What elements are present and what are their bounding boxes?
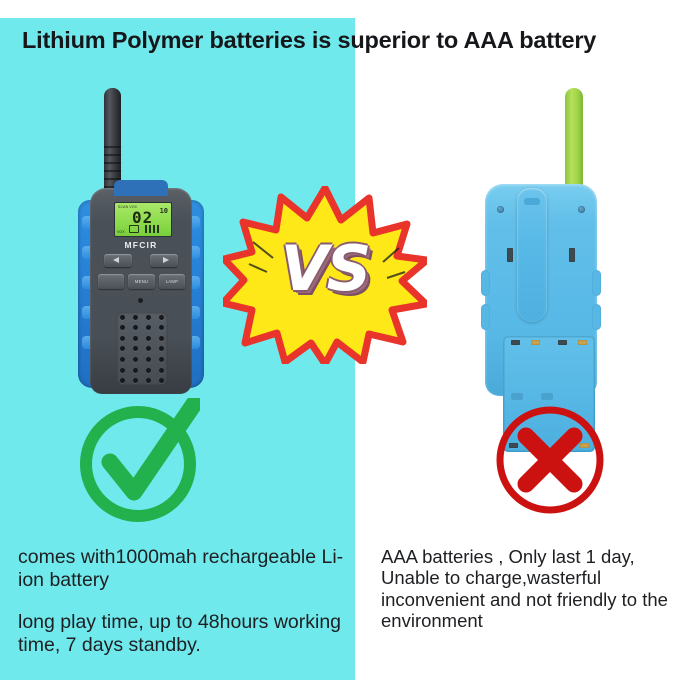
lcd-display: SCAN VOX 02 10 VOX: [114, 202, 172, 237]
brand-label: MFCIR: [90, 240, 192, 250]
bottom-foot-right: [541, 393, 553, 400]
product-comparison-infographic: Lithium Polymer batteries is superior to…: [0, 0, 679, 687]
speaker-grille: [116, 312, 168, 386]
lamp-button[interactable]: LAMP: [159, 274, 185, 289]
benefit-line-2: long play time, up to 48hours working ti…: [18, 611, 354, 656]
chevron-right-icon: [163, 257, 169, 263]
drawback-line-1: AAA batteries , Only last 1 day, Unable …: [381, 546, 677, 632]
left-device-shoulder: [114, 180, 168, 196]
menu-button[interactable]: MENU: [128, 274, 155, 289]
cross-mark-icon: [493, 403, 607, 517]
belt-clip-notch: [524, 198, 540, 205]
benefit-line-1: comes with1000mah rechargeable Li-ion ba…: [18, 546, 354, 591]
left-walkie-talkie-front-view: SCAN VOX 02 10 VOX MFCIR MENU LAMP: [76, 88, 206, 400]
call-button[interactable]: [98, 274, 124, 289]
left-benefits-text: comes with1000mah rechargeable Li-ion ba…: [18, 546, 354, 656]
left-device-body: SCAN VOX 02 10 VOX MFCIR MENU LAMP: [90, 188, 192, 394]
belt-clip: [517, 188, 547, 322]
right-drawbacks-text: AAA batteries , Only last 1 day, Unable …: [381, 546, 677, 632]
versus-badge: VS: [223, 186, 427, 364]
microphone-hole: [138, 298, 143, 303]
nav-left-button[interactable]: [104, 254, 132, 267]
lcd-vox-label: VOX: [117, 230, 125, 234]
screw-right-icon: [578, 206, 585, 213]
nav-right-button[interactable]: [150, 254, 178, 267]
chevron-left-icon: [113, 257, 119, 263]
right-antenna: [565, 88, 583, 190]
lcd-lock-icon: [129, 225, 139, 233]
page-title: Lithium Polymer batteries is superior to…: [22, 28, 662, 54]
versus-label: VS: [223, 238, 427, 300]
check-mark-icon: [76, 398, 200, 522]
bottom-foot-left: [511, 393, 523, 400]
right-walkie-talkie-back-view: [477, 88, 607, 400]
screw-left-icon: [497, 206, 504, 213]
lcd-signal-bars-icon: [145, 225, 161, 233]
lcd-sub-value: 10: [160, 207, 168, 215]
